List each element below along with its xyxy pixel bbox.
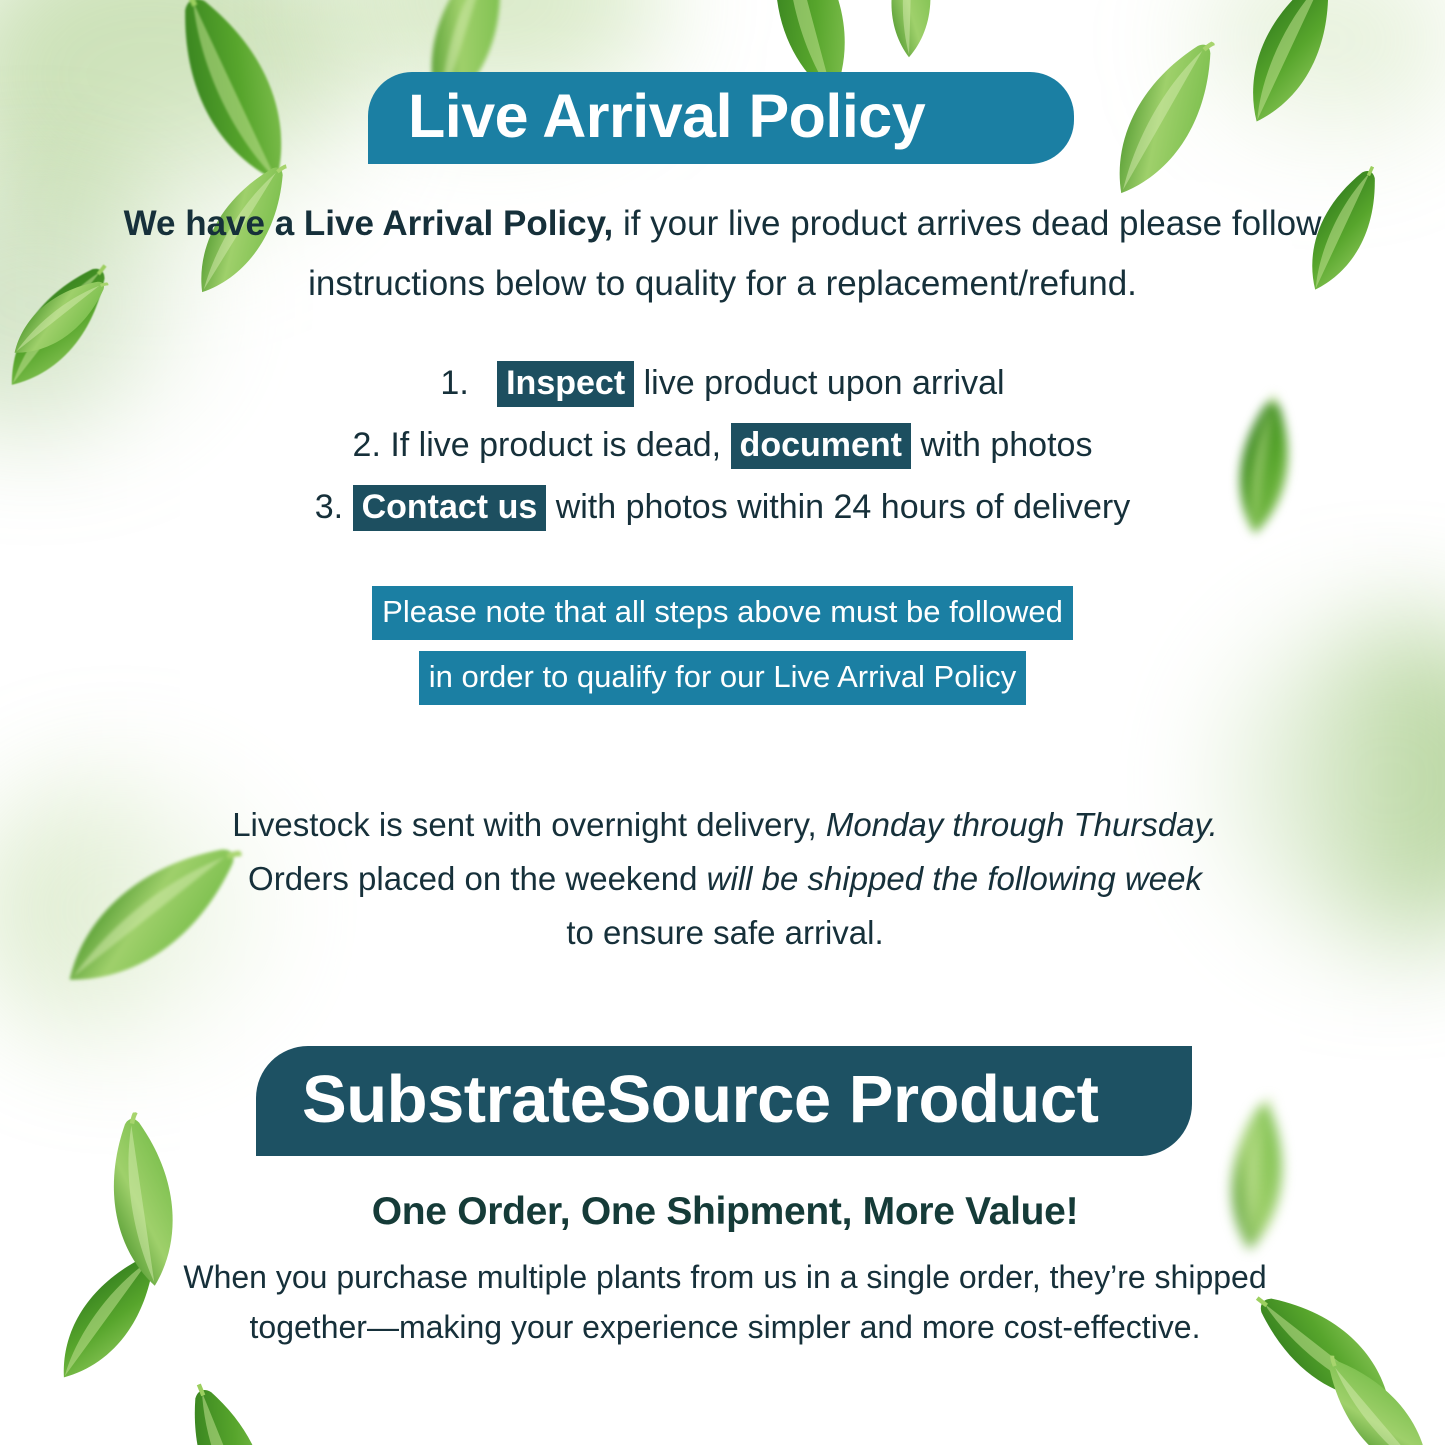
step-post-text: with photos within 24 hours of delivery (556, 488, 1131, 526)
substratesource-product-banner: SubstrateSource Product (256, 1046, 1192, 1156)
shipping-line1-plain: Livestock is sent with overnight deliver… (232, 806, 826, 843)
policy-note-text: in order to qualify for our Live Arrival… (419, 651, 1027, 705)
live-arrival-policy-banner: Live Arrival Policy (368, 72, 1074, 164)
step-number: 3. (315, 476, 343, 538)
shipping-schedule-paragraph: Livestock is sent with overnight deliver… (160, 798, 1290, 960)
policy-step-2: 2. If live product is dead, document wit… (100, 414, 1345, 476)
policy-step-3: 3. Contact us with photos within 24 hour… (100, 476, 1345, 538)
product-subheading: One Order, One Shipment, More Value! (160, 1190, 1290, 1234)
intro-paragraph: We have a Live Arrival Policy, if your l… (120, 194, 1325, 314)
step-post-text: with photos (920, 426, 1092, 464)
substratesource-product-title: SubstrateSource Product (302, 1061, 1098, 1138)
step-number: 2. (353, 414, 381, 476)
shipping-line3-plain: to ensure safe arrival. (566, 914, 883, 951)
policy-step-1: 1. Inspect live product upon arrival (100, 352, 1345, 414)
policy-page: Live Arrival Policy We have a Live Arriv… (0, 0, 1445, 1445)
policy-note-line: Please note that all steps above must be… (100, 586, 1345, 640)
step-highlight-document: document (731, 423, 911, 469)
policy-note-line: in order to qualify for our Live Arrival… (100, 651, 1345, 705)
step-number: 1. (440, 352, 468, 414)
policy-note-text: Please note that all steps above must be… (372, 586, 1073, 640)
intro-bold-text: We have a Live Arrival Policy, (124, 204, 614, 243)
step-highlight-inspect: Inspect (497, 361, 634, 407)
step-highlight-contact-us: Contact us (353, 485, 547, 531)
policy-steps-list: 1. Inspect live product upon arrival 2. … (100, 352, 1345, 538)
shipping-line2-italic: will be shipped the following week (707, 860, 1202, 897)
live-arrival-policy-title: Live Arrival Policy (408, 81, 925, 151)
step-pre-text: If live product is dead, (390, 426, 721, 464)
step-post-text: live product upon arrival (644, 364, 1005, 402)
shipping-line1-italic: Monday through Thursday. (826, 806, 1218, 843)
product-description: When you purchase multiple plants from u… (150, 1252, 1300, 1352)
shipping-line2-plain: Orders placed on the weekend (248, 860, 707, 897)
policy-note-block: Please note that all steps above must be… (100, 586, 1345, 716)
